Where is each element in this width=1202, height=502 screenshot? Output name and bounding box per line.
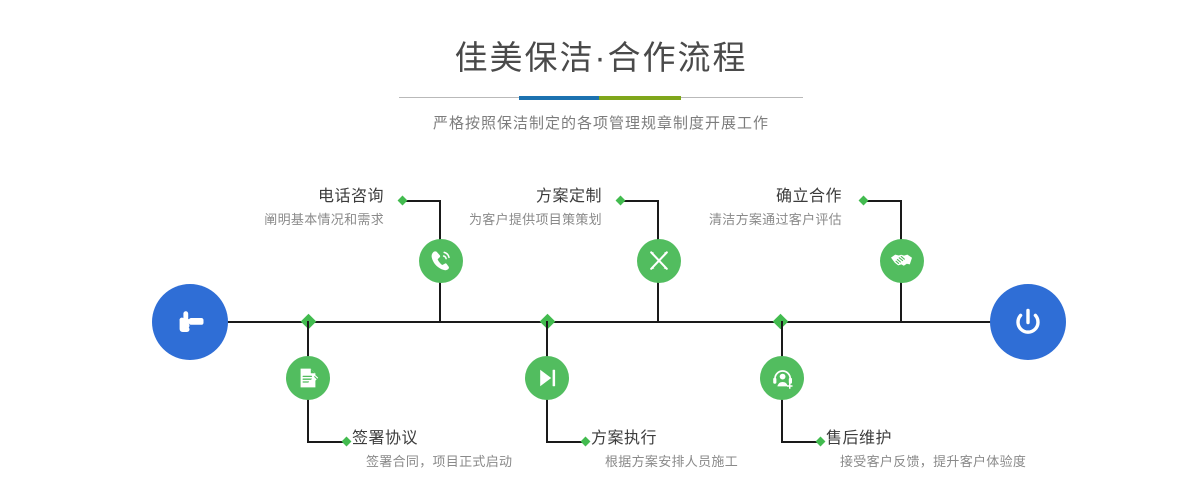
step-subtitle: 根据方案安排人员施工 bbox=[605, 452, 738, 472]
flow-end-node[interactable] bbox=[990, 284, 1066, 360]
pointing-hand-icon bbox=[170, 302, 210, 342]
header: 佳美保洁·合作流程 严格按照保洁制定的各项管理规章制度开展工作 bbox=[0, 0, 1202, 135]
connector-arm bbox=[865, 200, 902, 202]
connector-arm bbox=[622, 200, 659, 202]
divider-segment-green bbox=[599, 96, 681, 100]
step-label-top-2: 方案定制 为客户提供项目策策划 bbox=[469, 186, 602, 230]
step-subtitle: 为客户提供项目策策划 bbox=[469, 210, 602, 230]
step-title: 签署协议 bbox=[352, 428, 512, 450]
step-title: 电话咨询 bbox=[264, 186, 384, 208]
step-label-bottom-3: 售后维护 接受客户反馈，提升客户体验度 bbox=[826, 428, 1026, 472]
divider-segment-blue bbox=[519, 96, 599, 100]
label-marker bbox=[859, 196, 869, 206]
step-icon-document[interactable] bbox=[286, 356, 330, 400]
label-marker bbox=[816, 437, 826, 447]
step-label-top-1: 电话咨询 阐明基本情况和需求 bbox=[264, 186, 384, 230]
connector-arm bbox=[404, 200, 441, 202]
step-title: 方案定制 bbox=[469, 186, 602, 208]
step-icon-execute[interactable] bbox=[525, 356, 569, 400]
step-label-top-3: 确立合作 清洁方案通过客户评估 bbox=[709, 186, 842, 230]
connector-arm bbox=[307, 441, 345, 443]
step-label-bottom-2: 方案执行 根据方案安排人员施工 bbox=[591, 428, 738, 472]
page-subtitle: 严格按照保洁制定的各项管理规章制度开展工作 bbox=[0, 113, 1202, 135]
step-label-bottom-1: 签署协议 签署合同，项目正式启动 bbox=[352, 428, 512, 472]
step-subtitle: 签署合同，项目正式启动 bbox=[366, 452, 512, 472]
flow-start-node[interactable] bbox=[152, 284, 228, 360]
label-marker bbox=[581, 437, 591, 447]
page-title: 佳美保洁·合作流程 bbox=[0, 36, 1202, 80]
connector-arm bbox=[781, 441, 819, 443]
support-agent-icon bbox=[770, 366, 795, 391]
document-edit-icon bbox=[296, 366, 320, 390]
step-title: 售后维护 bbox=[826, 428, 1026, 450]
phone-call-icon bbox=[428, 248, 454, 274]
power-icon bbox=[1008, 302, 1048, 342]
step-icon-design[interactable] bbox=[637, 239, 681, 283]
step-subtitle: 阐明基本情况和需求 bbox=[264, 210, 384, 230]
step-icon-handshake[interactable] bbox=[880, 239, 924, 283]
process-flow-infographic: 佳美保洁·合作流程 严格按照保洁制定的各项管理规章制度开展工作 bbox=[0, 0, 1202, 502]
label-marker bbox=[342, 437, 352, 447]
step-icon-support[interactable] bbox=[760, 356, 804, 400]
pencil-design-icon bbox=[646, 248, 672, 274]
step-subtitle: 接受客户反馈，提升客户体验度 bbox=[840, 452, 1026, 472]
play-execute-icon bbox=[535, 366, 559, 390]
label-marker bbox=[398, 196, 408, 206]
step-subtitle: 清洁方案通过客户评估 bbox=[709, 210, 842, 230]
step-title: 方案执行 bbox=[591, 428, 738, 450]
step-icon-phone[interactable] bbox=[419, 239, 463, 283]
handshake-icon bbox=[888, 247, 916, 275]
step-title: 确立合作 bbox=[709, 186, 842, 208]
title-divider bbox=[399, 93, 803, 103]
label-marker bbox=[616, 196, 626, 206]
connector-arm bbox=[546, 441, 584, 443]
